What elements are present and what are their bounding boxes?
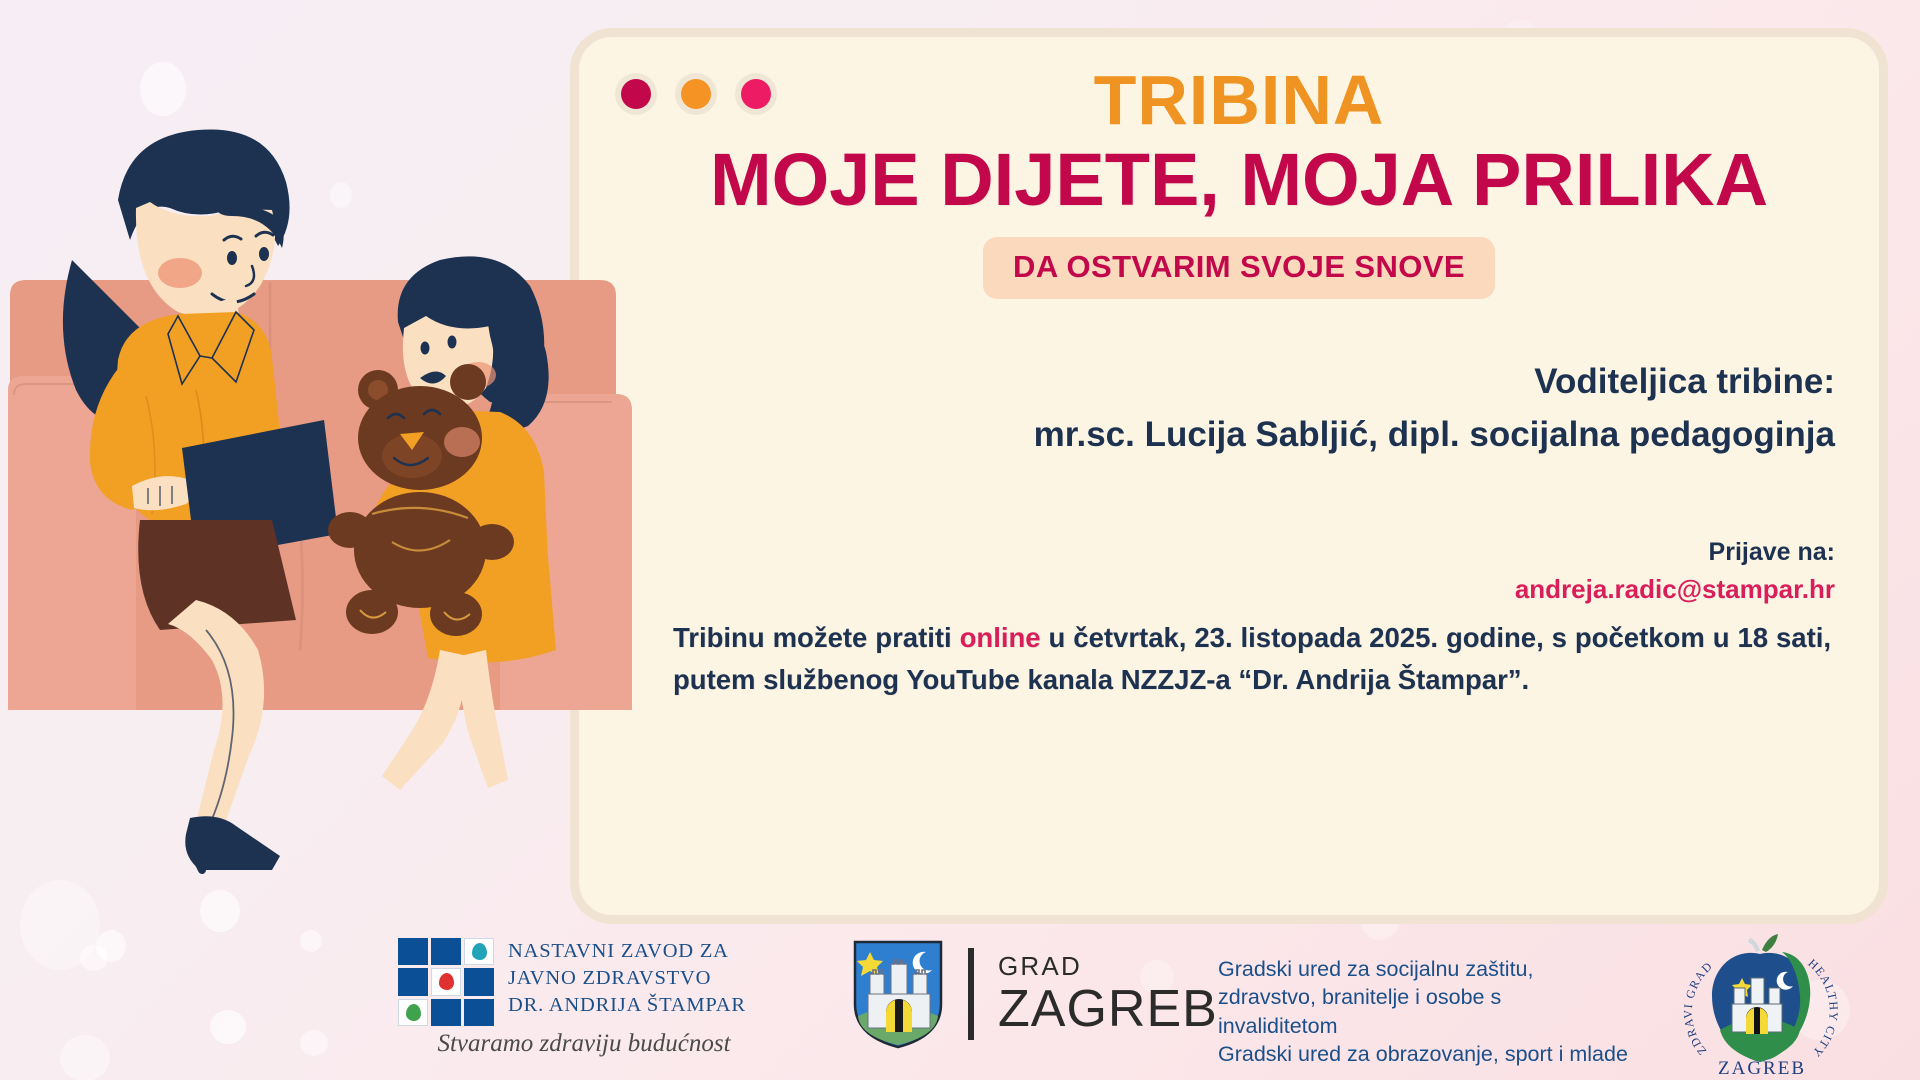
illustration-mother-and-child (0, 90, 640, 890)
grad-zagreb-divider (968, 948, 974, 1040)
office-line-3: invaliditetom (1218, 1012, 1678, 1040)
zagreb-coat-of-arms-icon (852, 938, 944, 1050)
office-line-4: Gradski ured za obrazovanje, sport i mla… (1218, 1040, 1678, 1068)
healthy-city-bottom: ZAGREB (1718, 1058, 1806, 1079)
grad-zagreb-line-2: ZAGREB (998, 983, 1218, 1035)
speaker-label: Voditeljica tribine: (805, 355, 1835, 408)
poster-subtitle-badge: DA OSTVARIM SVOJE SNOVE (983, 237, 1495, 299)
description-highlight-online: online (960, 622, 1041, 653)
svg-text:HEALTHY CITY: HEALTHY CITY (1805, 956, 1841, 1060)
office-line-2: zdravstvo, branitelje i osobe s (1218, 983, 1678, 1011)
title-block: TRIBINA MOJE DIJETE, MOJA PRILIKA DA OST… (639, 63, 1839, 299)
speaker-name: mr.sc. Lucija Sabljić, dipl. socijalna p… (805, 408, 1835, 461)
healthy-city-left-arc: ZDRAVI GRAD (1681, 959, 1716, 1058)
nzzjz-line-3: DR. ANDRIJA ŠTAMPAR (508, 992, 746, 1019)
poster-title: MOJE DIJETE, MOJA PRILIKA (639, 139, 1839, 220)
office-line-1: Gradski ured za socijalnu zaštitu, (1218, 955, 1678, 983)
signup-label: Prijave na: (935, 535, 1835, 571)
nzzjz-slogan: Stvaramo zdraviju budućnost (398, 1030, 770, 1058)
signup-email[interactable]: andreja.radic@stampar.hr (935, 571, 1835, 608)
speaker-block: Voditeljica tribine: mr.sc. Lucija Sablj… (805, 355, 1835, 461)
nzzjz-mark-icon (398, 938, 494, 1026)
logo-grad-zagreb: GRAD ZAGREB (852, 938, 1218, 1050)
nzzjz-line-1: NASTAVNI ZAVOD ZA (508, 938, 746, 965)
logo-nzzjz: NASTAVNI ZAVOD ZA JAVNO ZDRAVSTVO DR. AN… (398, 938, 770, 1058)
description-part1: Tribinu možete pratiti (673, 622, 960, 653)
healthy-city-right-arc: HEALTHY CITY (1805, 956, 1841, 1060)
svg-text:ZDRAVI GRAD: ZDRAVI GRAD (1681, 959, 1716, 1058)
poster-kicker: TRIBINA (639, 63, 1839, 137)
event-description: Tribinu možete pratiti online u četvrtak… (673, 617, 1831, 701)
logo-healthy-city-zagreb: ZDRAVI GRAD HEALTHY CITY ZAGREB (1672, 932, 1852, 1080)
nzzjz-line-2: JAVNO ZDRAVSTVO (508, 965, 746, 992)
grad-zagreb-line-1: GRAD (998, 953, 1218, 979)
city-offices-text: Gradski ured za socijalnu zaštitu, zdrav… (1218, 955, 1678, 1069)
signup-block: Prijave na: andreja.radic@stampar.hr (935, 535, 1835, 607)
poster-card: TRIBINA MOJE DIJETE, MOJA PRILIKA DA OST… (570, 28, 1888, 924)
poster-badge-row: DA OSTVARIM SVOJE SNOVE (639, 237, 1839, 299)
